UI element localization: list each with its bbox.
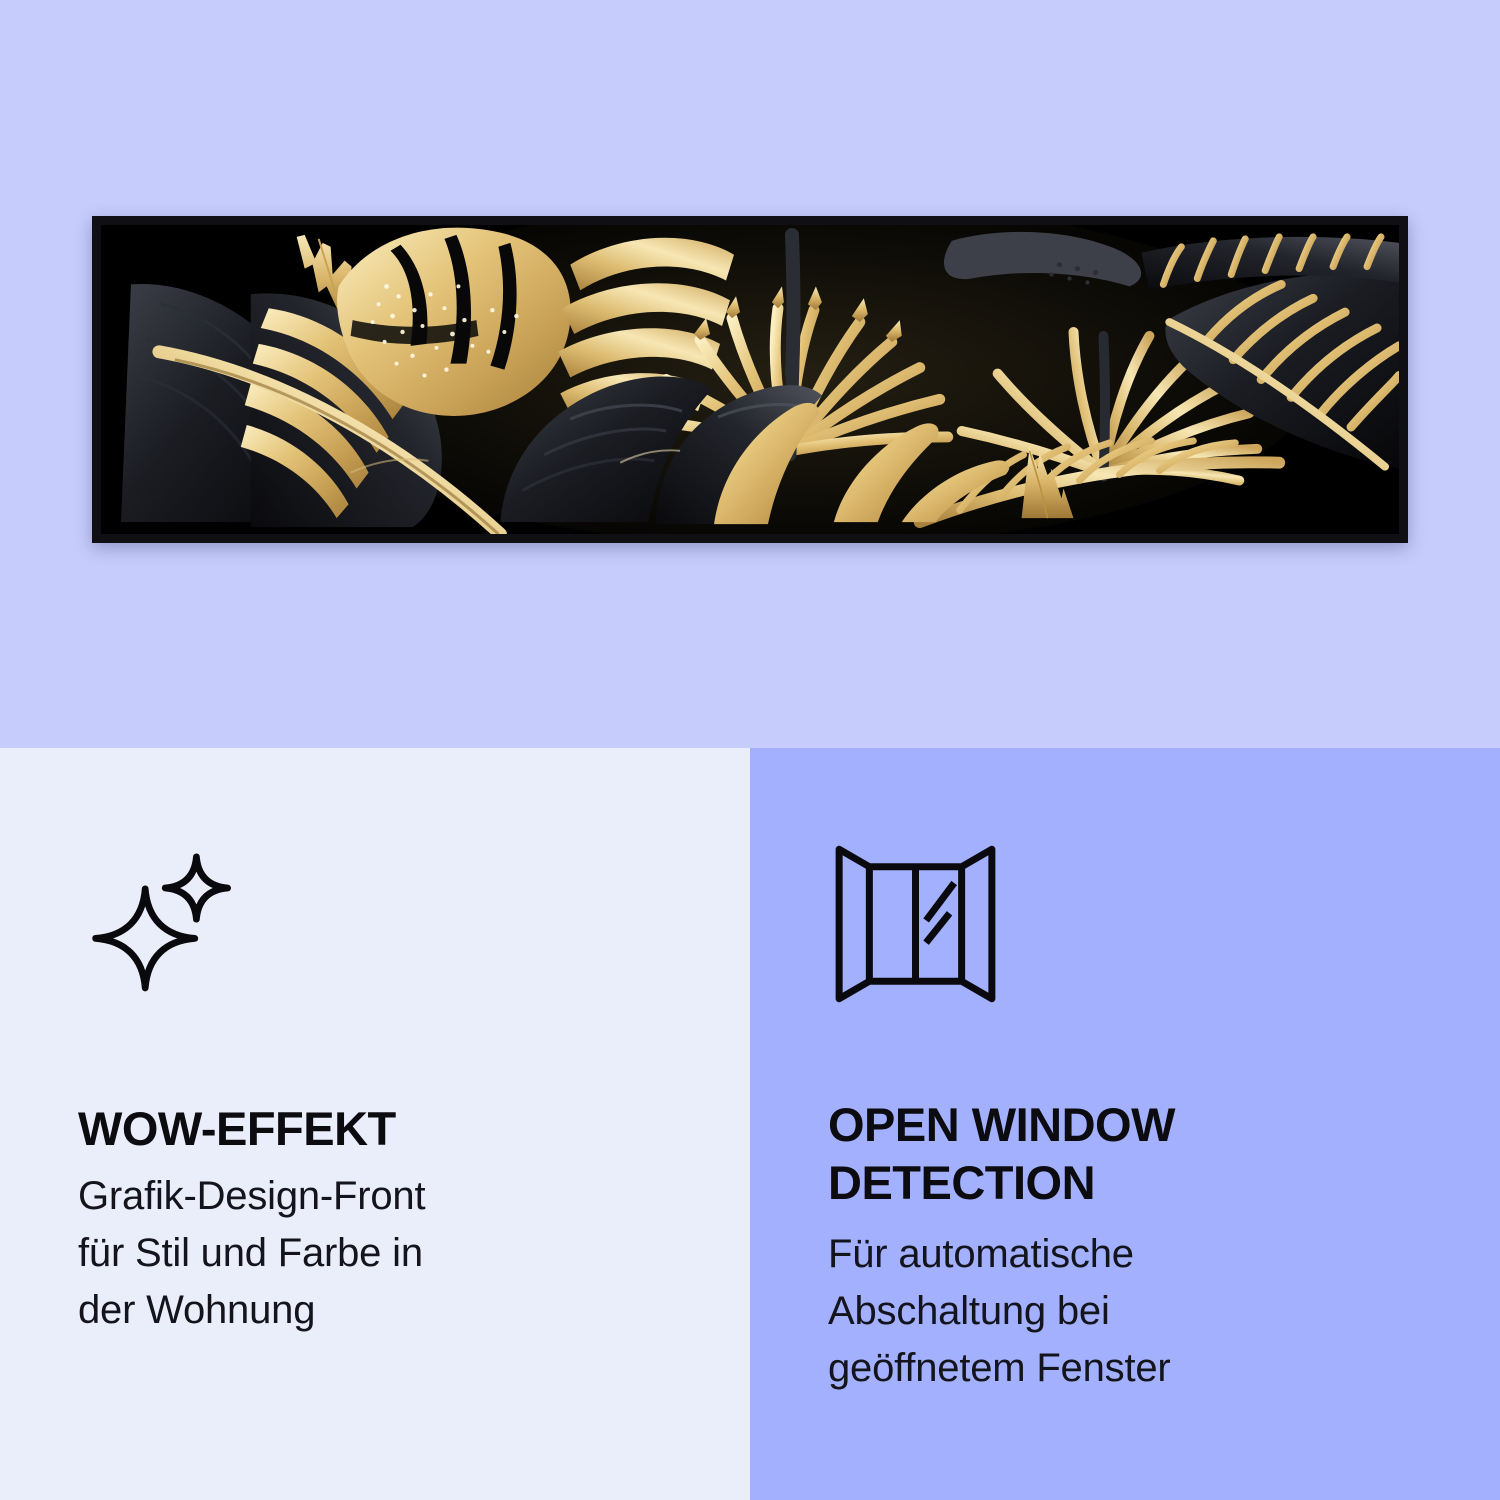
open-window-icon (828, 844, 1003, 1004)
feature-title: WOW-EFFEKT (78, 1100, 690, 1158)
feature-description: Grafik-Design-Front für Stil und Farbe i… (78, 1168, 690, 1339)
feature-title: OPEN WINDOW DETECTION (828, 1096, 1440, 1212)
sparkle-icon (78, 844, 238, 1004)
product-feature-page: WOW-EFFEKT Grafik-Design-Front für Stil … (0, 0, 1500, 1500)
framed-artwork (92, 216, 1408, 543)
feature-card-open-window-detection: OPEN WINDOW DETECTION Für automatische A… (750, 748, 1500, 1500)
features-section: WOW-EFFEKT Grafik-Design-Front für Stil … (0, 748, 1500, 1500)
feature-description: Für automatische Abschaltung bei geöffne… (828, 1226, 1440, 1397)
feature-card-wow-effekt: WOW-EFFEKT Grafik-Design-Front für Stil … (0, 748, 750, 1500)
hero-section (0, 0, 1500, 748)
dark-stem-centre (792, 235, 793, 374)
tropical-leaves-illustration (101, 225, 1399, 534)
artwork-canvas (101, 225, 1399, 534)
